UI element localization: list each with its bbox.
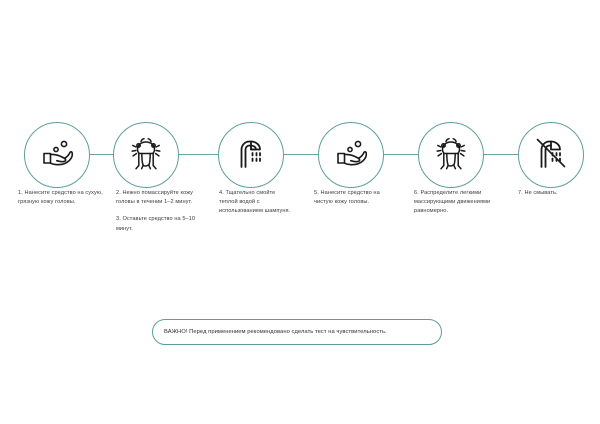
step-text-5: 5. Нанесите средство на чистую кожу голо… xyxy=(314,189,396,207)
connector-3-4 xyxy=(284,154,318,155)
step-line: 5. Нанесите средство на чистую кожу голо… xyxy=(314,189,396,207)
hand-with-product-icon xyxy=(329,133,373,177)
important-note-banner: ВАЖНО! Перед применением рекомендовано с… xyxy=(152,319,442,345)
instruction-infographic: 1. Нанесите средство на сухую, грязную к… xyxy=(0,0,600,424)
step-text-4: 4. Тщательно смойте теплой водой с испол… xyxy=(219,189,295,217)
step-circle-5[interactable] xyxy=(318,122,384,188)
connector-2-3 xyxy=(179,154,218,155)
step-text-7: 7. Не смывать. xyxy=(518,189,594,198)
step-circle-2[interactable] xyxy=(113,122,179,188)
head-massage-icon xyxy=(124,133,168,177)
connector-5-6 xyxy=(484,154,518,155)
step-line: 1. Нанесите средство на сухую, грязную к… xyxy=(18,189,104,207)
step-text-6: 6. Распределите легкими массирующими дви… xyxy=(414,189,502,217)
step-line: 3. Оставьте средство на 5–10 минут. xyxy=(116,215,198,233)
step-line: 4. Тщательно смойте теплой водой с испол… xyxy=(219,189,295,217)
step-text-2: 2. Нежно помассируйте кожу головы в тече… xyxy=(116,189,198,234)
hand-with-product-icon xyxy=(35,133,79,177)
step-line: 6. Распределите легкими массирующими дви… xyxy=(414,189,502,217)
step-circle-6[interactable] xyxy=(418,122,484,188)
important-note-text: ВАЖНО! Перед применением рекомендовано с… xyxy=(153,328,387,337)
no-shower-icon xyxy=(529,133,573,177)
shower-icon xyxy=(229,133,273,177)
step-line: 2. Нежно помассируйте кожу головы в тече… xyxy=(116,189,198,207)
step-circle-4[interactable] xyxy=(218,122,284,188)
step-circle-7[interactable] xyxy=(518,122,584,188)
connector-1-2 xyxy=(90,154,113,155)
step-text-1: 1. Нанесите средство на сухую, грязную к… xyxy=(18,189,104,207)
step-circle-1[interactable] xyxy=(24,122,90,188)
steps-row xyxy=(0,122,600,188)
step-line: 7. Не смывать. xyxy=(518,189,594,198)
connector-4-5 xyxy=(384,154,418,155)
head-massage-icon xyxy=(429,133,473,177)
